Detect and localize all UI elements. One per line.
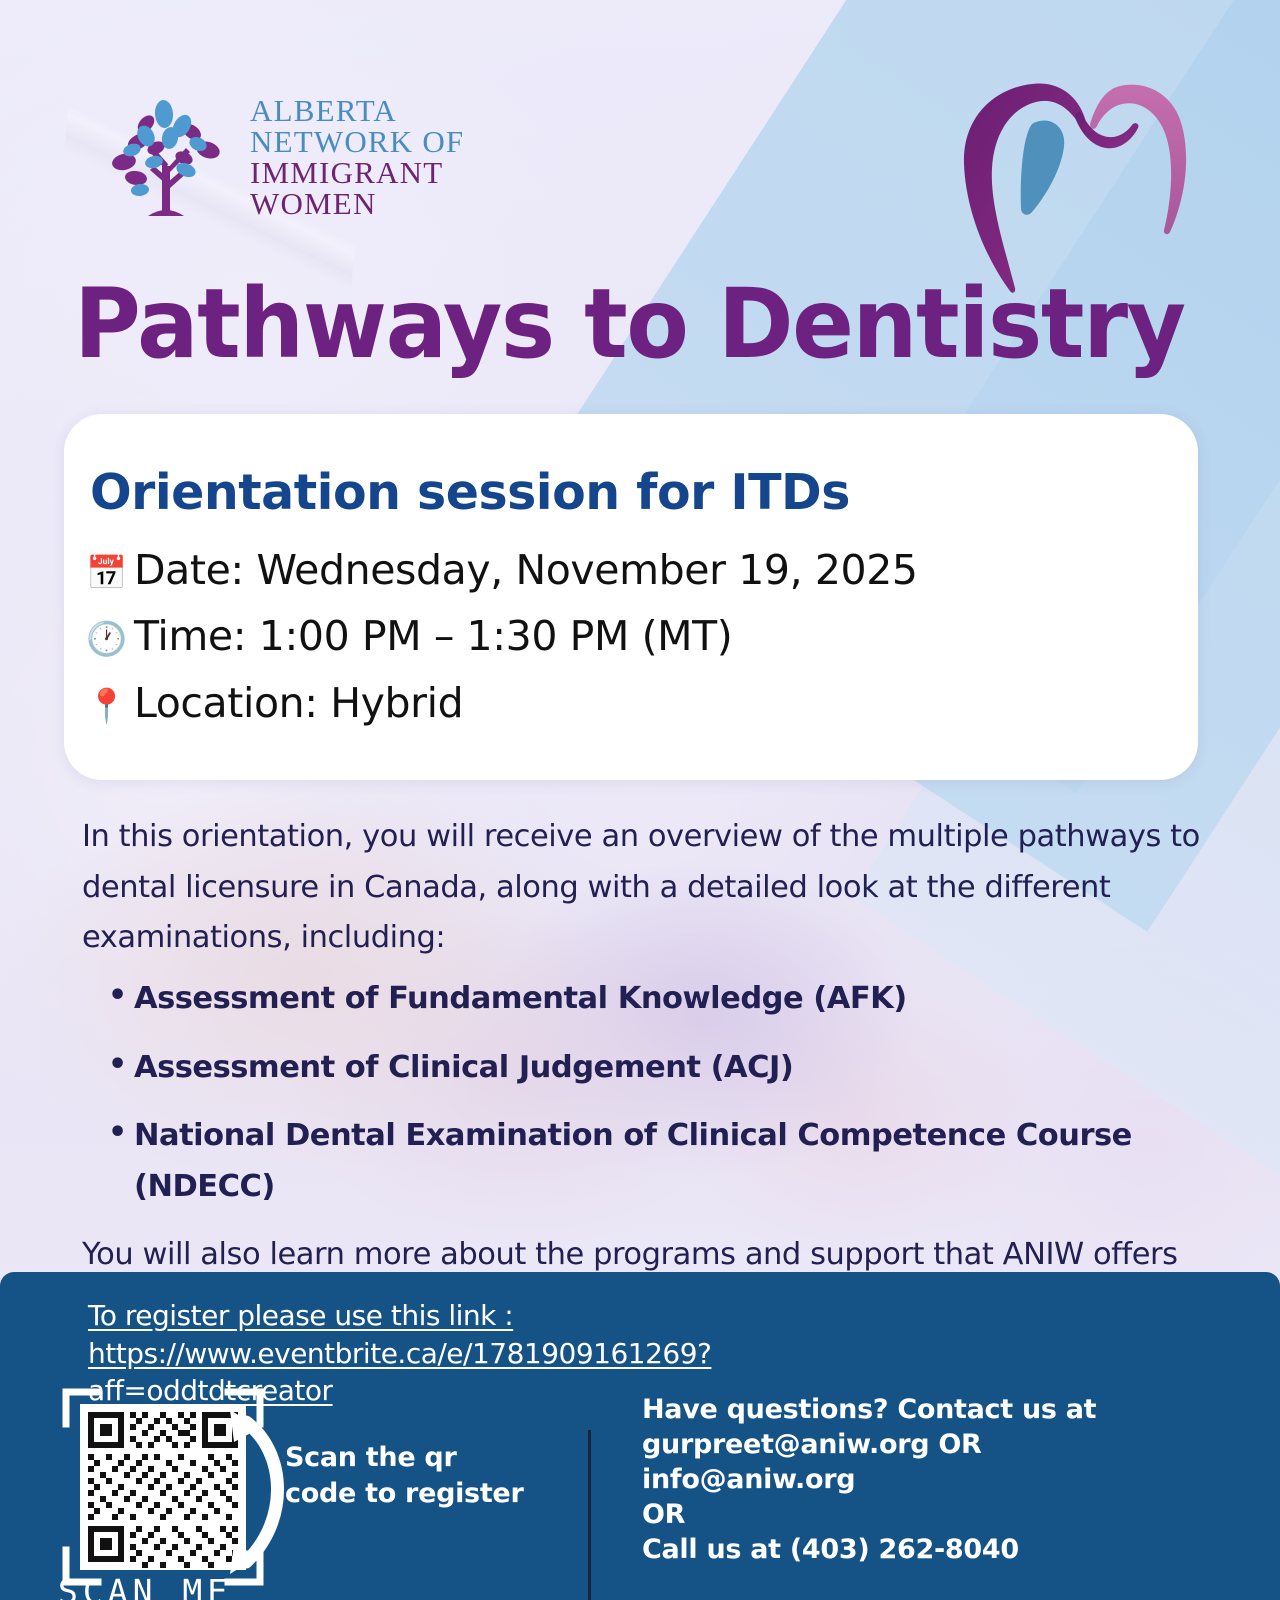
calendar-icon: 📅 bbox=[86, 546, 122, 599]
intro-paragraph: In this orientation, you will receive an… bbox=[82, 812, 1200, 964]
logo-line-3: IMMIGRANT bbox=[250, 157, 464, 188]
poster-root: ALBERTA NETWORK OF IMMIGRANT WOMEN Pathw… bbox=[0, 0, 1280, 1600]
contact-line-1: Have questions? Contact us at bbox=[642, 1392, 1162, 1427]
contact-block: Have questions? Contact us at gurpreet@a… bbox=[642, 1392, 1162, 1567]
tree-icon bbox=[96, 92, 236, 222]
session-info-card: Orientation session for ITDs 📅 Date: Wed… bbox=[64, 414, 1198, 780]
session-details-list: 📅 Date: Wednesday, November 19, 2025 🕐 T… bbox=[64, 521, 1198, 736]
logo-line-4: WOMEN bbox=[250, 188, 464, 219]
scan-instruction: Scan the qr code to register bbox=[285, 1440, 523, 1511]
scan-me-label: SCAN ME bbox=[58, 1572, 232, 1600]
location-pin-icon: 📍 bbox=[86, 679, 122, 732]
scan-instruction-line-2: code to register bbox=[285, 1476, 523, 1512]
logo-line-1: ALBERTA bbox=[250, 95, 464, 126]
exam-list-item: National Dental Examination of Clinical … bbox=[82, 1111, 1200, 1212]
detail-text-time: Time: 1:00 PM – 1:30 PM (MT) bbox=[134, 603, 732, 669]
contact-line-2[interactable]: gurpreet@aniw.org OR info@aniw.org bbox=[642, 1427, 1162, 1497]
detail-row-date: 📅 Date: Wednesday, November 19, 2025 bbox=[86, 537, 1198, 603]
register-label: To register please use this link : bbox=[88, 1297, 918, 1335]
session-heading: Orientation session for ITDs bbox=[64, 414, 1198, 521]
contact-line-4: Call us at (403) 262-8040 bbox=[642, 1532, 1162, 1567]
exam-list-item: Assessment of Fundamental Knowledge (AFK… bbox=[82, 974, 1200, 1025]
scan-instruction-line-1: Scan the qr bbox=[285, 1440, 523, 1476]
detail-text-date: Date: Wednesday, November 19, 2025 bbox=[134, 537, 918, 603]
page-title: Pathways to Dentistry bbox=[74, 268, 1167, 380]
exam-list: Assessment of Fundamental Knowledge (AFK… bbox=[82, 974, 1200, 1213]
detail-text-location: Location: Hybrid bbox=[134, 670, 463, 736]
detail-row-time: 🕐 Time: 1:00 PM – 1:30 PM (MT) bbox=[86, 603, 1198, 669]
body-copy: In this orientation, you will receive an… bbox=[82, 812, 1200, 1338]
detail-row-location: 📍 Location: Hybrid bbox=[86, 670, 1198, 736]
aniw-logo: ALBERTA NETWORK OF IMMIGRANT WOMEN bbox=[96, 92, 464, 222]
contact-line-3: OR bbox=[642, 1497, 1162, 1532]
exam-list-item: Assessment of Clinical Judgement (ACJ) bbox=[82, 1043, 1200, 1094]
logo-line-2: NETWORK OF bbox=[250, 126, 464, 157]
footer-divider bbox=[588, 1430, 591, 1600]
clock-icon: 🕐 bbox=[86, 612, 122, 665]
footer-bar: To register please use this link : https… bbox=[0, 1272, 1280, 1600]
